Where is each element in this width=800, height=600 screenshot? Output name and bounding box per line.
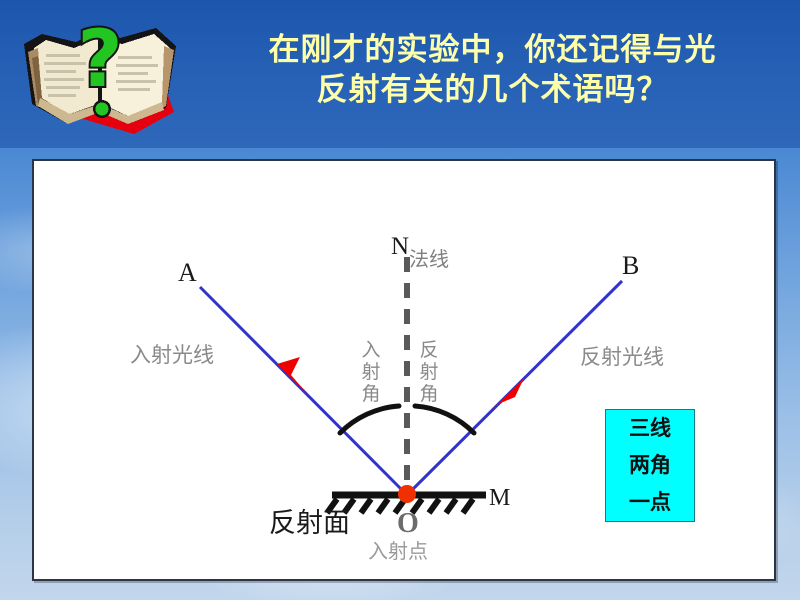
key-term-1: 三线 — [629, 418, 671, 439]
key-terms-box: 三线 两角 一点 — [605, 409, 695, 522]
label-reflected-ray: 反射光线 — [580, 341, 664, 371]
label-reflecting-surface: 反射面 — [269, 501, 350, 540]
label-point-a: A — [178, 258, 197, 288]
angle-in-char-1: 入 — [361, 339, 380, 361]
diagram-panel: A B N M O 法线 入射光线 反射光线 反射面 入射点 入 射 角 反 射… — [32, 159, 776, 581]
angle-out-char-2: 射 — [419, 361, 438, 383]
angle-out-char-3: 角 — [419, 383, 438, 405]
angle-in-char-2: 射 — [361, 361, 380, 383]
incident-point-dot — [398, 485, 416, 503]
label-angle-of-incidence: 入 射 角 — [360, 339, 382, 405]
angle-in-char-3: 角 — [361, 383, 380, 405]
label-angle-of-reflection: 反 射 角 — [418, 339, 440, 405]
svg-text:?: ? — [77, 15, 122, 105]
label-point-m: M — [489, 485, 510, 512]
key-term-2: 两角 — [629, 455, 671, 476]
angle-out-char-1: 反 — [419, 339, 438, 361]
open-book-with-question-mark-icon: ? — [16, 12, 184, 138]
key-term-3: 一点 — [629, 492, 671, 513]
label-point-b: B — [622, 251, 639, 281]
slide-canvas: ? 在刚才的实验中，你还记得与光 反射有关的几个术语吗？ — [0, 0, 800, 600]
label-incident-point: 入射点 — [368, 535, 428, 564]
label-incident-ray: 入射光线 — [130, 339, 214, 369]
page-title: 在刚才的实验中，你还记得与光 反射有关的几个术语吗？ — [205, 30, 780, 110]
question-mark-glyph: ? — [77, 15, 122, 105]
label-point-n: N — [391, 233, 409, 261]
label-normal-line: 法线 — [409, 243, 449, 272]
